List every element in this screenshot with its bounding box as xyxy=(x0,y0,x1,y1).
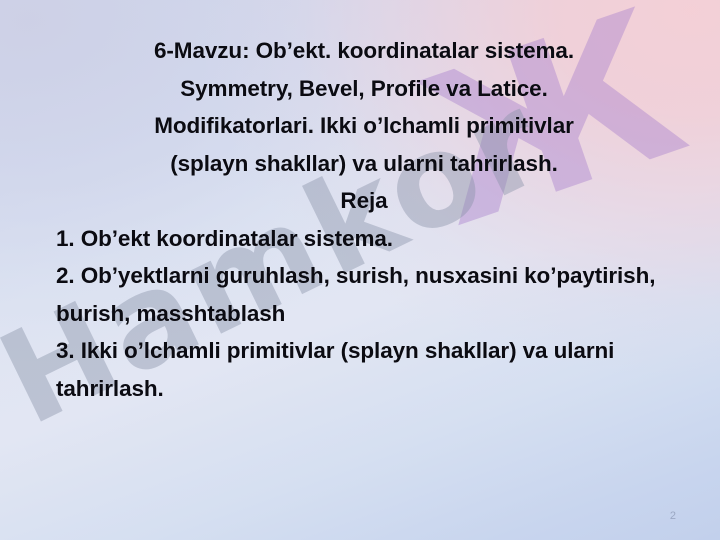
agenda-list: 1. Ob’ekt koordinatalar sistema. 2. Ob’y… xyxy=(56,220,672,408)
list-item-2: 2. Ob’yektlarni guruhlash, surish, nusxa… xyxy=(56,257,672,332)
page-number: 2 xyxy=(670,510,676,522)
slide-content: 6-Mavzu: Ob’ekt. koordinatalar sistema. … xyxy=(0,0,720,407)
title-line-4: (splayn shakllar) va ularni tahrirlash. xyxy=(56,145,672,183)
list-item-1: 1. Ob’ekt koordinatalar sistema. xyxy=(56,220,672,258)
title-line-2: Symmetry, Bevel, Profile va Latice. xyxy=(56,70,672,108)
title-line-1: 6-Mavzu: Ob’ekt. koordinatalar sistema. xyxy=(56,32,672,70)
title-line-3: Modifikatorlari. Ikki o’lchamli primitiv… xyxy=(56,107,672,145)
section-heading-reja: Reja xyxy=(56,182,672,220)
slide-title: 6-Mavzu: Ob’ekt. koordinatalar sistema. … xyxy=(56,32,672,182)
list-item-3: 3. Ikki o’lchamli primitivlar (splayn sh… xyxy=(56,332,672,407)
slide-canvas: Ж Hamkor 6-Mavzu: Ob’ekt. koordinatalar … xyxy=(0,0,720,540)
